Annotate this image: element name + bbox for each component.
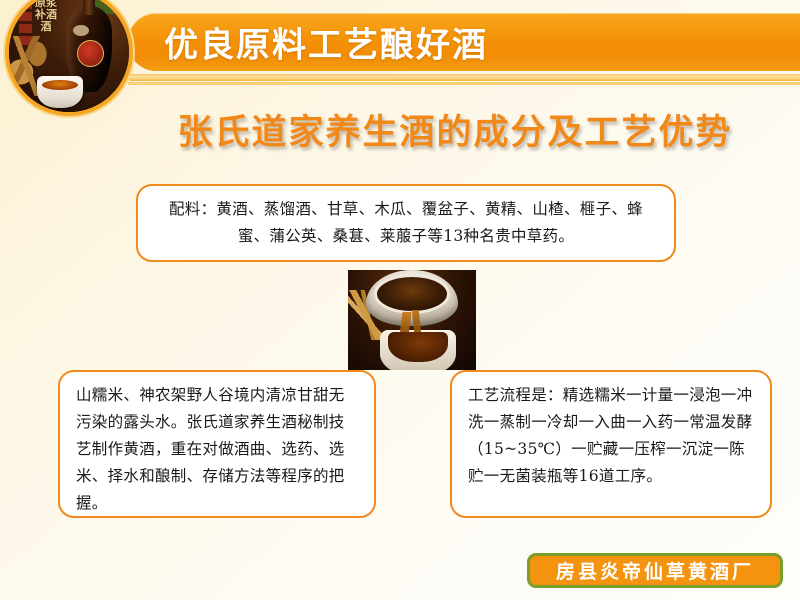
header-banner-title: 优良原料工艺酿好酒 — [164, 18, 488, 67]
bottle-round-label — [77, 40, 104, 67]
ingredients-callout-box: 配料：黄酒、蒸馏酒、甘草、木瓜、覆盆子、黄精、山楂、榧子、蜂蜜、蒲公英、桑葚、莱… — [136, 184, 676, 262]
receiving-cup-liquid — [388, 332, 448, 362]
product-bottle-photo: 原浆补酒酒 — [5, 0, 133, 116]
header-banner: 优良原料工艺酿好酒 — [128, 13, 800, 71]
bottle-neck-shape — [83, 0, 95, 15]
company-name-label: 房县炎帝仙草黄酒厂 — [556, 557, 754, 584]
process-callout-box: 工艺流程是：精选糯米一计量一浸泡一冲洗一蒸制一冷却一入曲一入药一常温发酵（15~… — [450, 370, 772, 518]
raw-material-callout-box: 山糯米、神农架野人谷境内清凉甘甜无污染的露头水。张氏道家养生酒秘制技艺制作黄酒，… — [58, 370, 376, 518]
page-subtitle: 张氏道家养生酒的成分及工艺优势 — [0, 104, 800, 155]
cup-liquid-shape — [42, 80, 78, 90]
raw-material-text: 山糯米、神农架野人谷境内清凉甘甜无污染的露头水。张氏道家养生酒秘制技艺制作黄酒，… — [76, 382, 358, 517]
pouring-bowl-liquid — [374, 274, 450, 314]
company-name-banner: 房县炎帝仙草黄酒厂 — [527, 553, 783, 588]
bottle-upper-label — [73, 25, 89, 36]
slide-canvas: 优良原料工艺酿好酒 原浆补酒酒 张氏道家养生酒的成分及工艺优势 配料：黄酒、蒸馏… — [0, 0, 800, 600]
bottle-vertical-text: 原浆补酒酒 — [35, 0, 57, 33]
header-underline-thin-stripe — [128, 82, 800, 85]
pouring-wine-photo — [348, 270, 476, 370]
header-underline-stripe — [128, 74, 800, 81]
process-text: 工艺流程是：精选糯米一计量一浸泡一冲洗一蒸制一冷却一入曲一入药一常温发酵（15~… — [468, 382, 754, 490]
ingredients-text: 配料：黄酒、蒸馏酒、甘草、木瓜、覆盆子、黄精、山楂、榧子、蜂蜜、蒲公英、桑葚、莱… — [156, 196, 656, 250]
